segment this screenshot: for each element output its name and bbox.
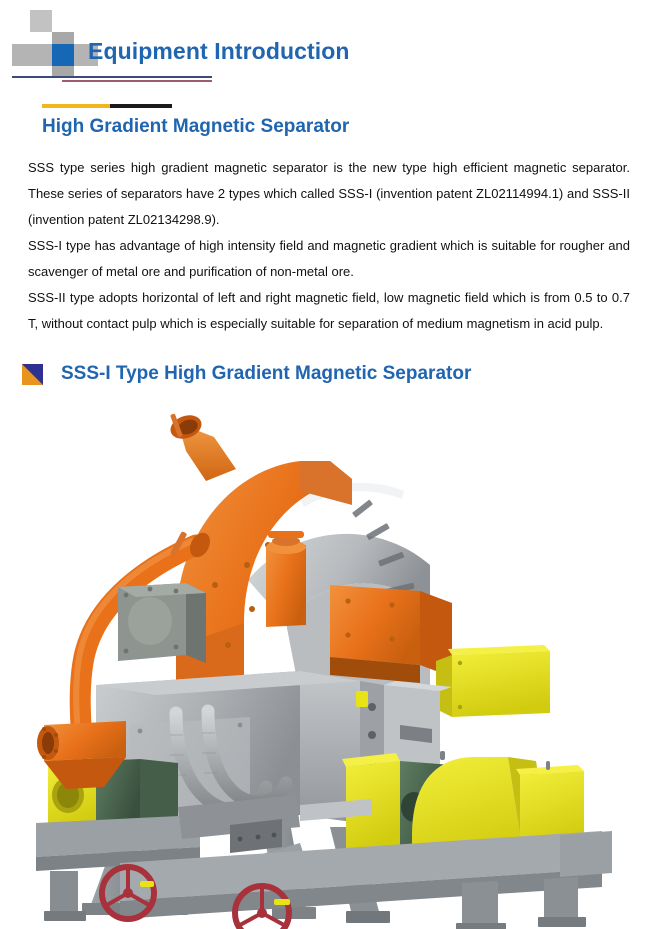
logo-square-center-blue xyxy=(52,44,74,66)
base-leg-left-1 xyxy=(50,871,78,915)
base-foot-front-2 xyxy=(538,917,586,927)
header-rule-maroon xyxy=(62,80,212,82)
base-foot-front-1 xyxy=(456,923,506,929)
left-gearbox-extension xyxy=(140,759,178,825)
yellow-chute-body xyxy=(452,651,550,717)
center-orange-pillar xyxy=(266,545,306,627)
diagonal-split-square-icon xyxy=(22,364,43,385)
header-rule-navy xyxy=(12,76,212,78)
logo-square-left xyxy=(12,44,52,66)
upper-gearbox xyxy=(118,583,206,663)
leg-foot-2 xyxy=(272,907,316,919)
paragraph-1: SSS type series high gradient magnetic s… xyxy=(28,155,630,233)
upper-yellow-chute xyxy=(436,645,550,717)
section-heading: High Gradient Magnetic Separator xyxy=(42,116,349,138)
leg-foot-3 xyxy=(346,911,390,923)
right-lift-eye-1 xyxy=(440,751,445,760)
base-leg-front-2 xyxy=(544,877,578,923)
checkerboard-squares-logo-icon xyxy=(12,8,76,76)
logo-square-top-left xyxy=(30,10,52,32)
magnetic-separator-illustration xyxy=(0,395,654,929)
section-accent-bar xyxy=(42,104,172,108)
gearbox-side xyxy=(186,583,206,663)
handwheel-left-yellow-stem xyxy=(140,881,154,887)
top-inlet-nozzle xyxy=(167,411,236,481)
page-title: Equipment Introduction xyxy=(88,38,350,65)
accent-bar-yellow-segment xyxy=(42,104,110,108)
paragraph-3: SSS-II type adopts horizontal of left an… xyxy=(28,285,630,337)
paragraph-2: SSS-I type has advantage of high intensi… xyxy=(28,233,630,285)
subsection-heading-row: SSS-I Type High Gradient Magnetic Separa… xyxy=(22,360,471,388)
handwheel-right-yellow-stem xyxy=(274,899,290,905)
housing-right-block xyxy=(330,585,420,665)
page-header: Equipment Introduction xyxy=(0,0,654,95)
column-yellow-tab xyxy=(356,691,368,707)
accent-bar-black-segment xyxy=(110,104,172,108)
body-copy: SSS type series high gradient magnetic s… xyxy=(28,155,630,337)
base-leg-front-1 xyxy=(462,881,498,929)
equipment-photo xyxy=(0,395,654,929)
base-foot-left-1 xyxy=(44,911,86,921)
right-lift-eye-2 xyxy=(546,761,550,770)
base-beam-right-end xyxy=(560,831,612,877)
subsection-heading: SSS-I Type High Gradient Magnetic Separa… xyxy=(61,363,471,385)
gearbox-cover-plate xyxy=(128,597,172,645)
hopper-flange-bore xyxy=(42,732,54,754)
